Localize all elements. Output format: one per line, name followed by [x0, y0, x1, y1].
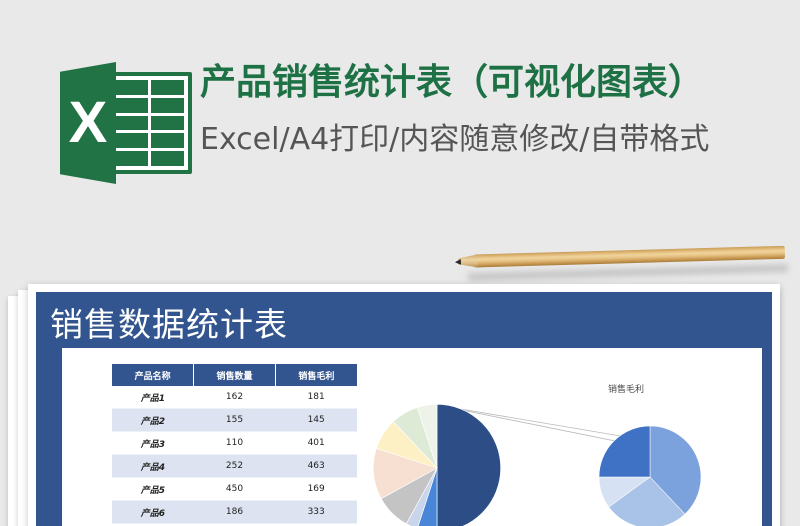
chart-title: 销售毛利	[608, 382, 644, 395]
cell-quantity: 155	[194, 409, 276, 432]
logo-grid	[114, 80, 184, 166]
header-banner: X 产品销售统计表（可视化图表） Excel/A4打印/内容随意修改/自带格式	[0, 0, 800, 286]
header-text-block: 产品销售统计表（可视化图表） Excel/A4打印/内容随意修改/自带格式	[200, 60, 790, 160]
document-banner-title: 销售数据统计表	[50, 298, 288, 346]
cell-profit: 463	[275, 455, 357, 478]
cell-product: 产品1	[112, 386, 194, 409]
cell-quantity: 162	[194, 386, 276, 409]
pie-chart-secondary	[598, 425, 702, 526]
column-header-product: 产品名称	[112, 364, 194, 386]
cell-product: 产品5	[112, 478, 194, 501]
cell-quantity: 110	[194, 432, 276, 455]
cell-product: 产品4	[112, 455, 194, 478]
sales-data-table: 产品名称 销售数量 销售毛利 产品1 162 181 产品2 155 145	[112, 364, 357, 526]
cell-product: 产品6	[112, 501, 194, 524]
table-row: 产品2 155 145	[112, 409, 357, 432]
logo-letter: X	[60, 62, 116, 184]
cell-profit: 401	[275, 432, 357, 455]
cell-quantity: 252	[194, 455, 276, 478]
page-subtitle: Excel/A4打印/内容随意修改/自带格式	[200, 120, 790, 160]
table-header-row: 产品名称 销售数量 销售毛利	[112, 364, 357, 386]
cell-quantity: 186	[194, 501, 276, 524]
chart-area: 销售毛利	[362, 348, 762, 526]
page-title: 产品销售统计表（可视化图表）	[200, 60, 790, 106]
table-row: 产品4 252 463	[112, 455, 357, 478]
cell-product: 产品3	[112, 432, 194, 455]
cell-profit: 145	[275, 409, 357, 432]
table-row: 产品5 450 169	[112, 478, 357, 501]
screenshot-root: X 产品销售统计表（可视化图表） Excel/A4打印/内容随意修改/自带格式 …	[0, 0, 800, 526]
cell-quantity: 450	[194, 478, 276, 501]
cell-profit: 333	[275, 501, 357, 524]
document-preview: 销售数据统计表 产品名称 销售数量 销售毛利 产品1 162 181	[36, 292, 772, 526]
table-row: 产品1 162 181	[112, 386, 357, 409]
pie-slice	[599, 426, 650, 477]
cell-profit: 169	[275, 478, 357, 501]
column-header-quantity: 销售数量	[194, 364, 276, 386]
pie-chart-main	[372, 403, 502, 526]
document-page: 产品名称 销售数量 销售毛利 产品1 162 181 产品2 155 145	[62, 348, 762, 526]
cell-product: 产品2	[112, 409, 194, 432]
table-row: 产品3 110 401	[112, 432, 357, 455]
pie-slice	[437, 404, 501, 526]
excel-logo-icon: X	[60, 62, 192, 184]
column-header-profit: 销售毛利	[275, 364, 357, 386]
table-row: 产品6 186 333	[112, 501, 357, 524]
cell-profit: 181	[275, 386, 357, 409]
